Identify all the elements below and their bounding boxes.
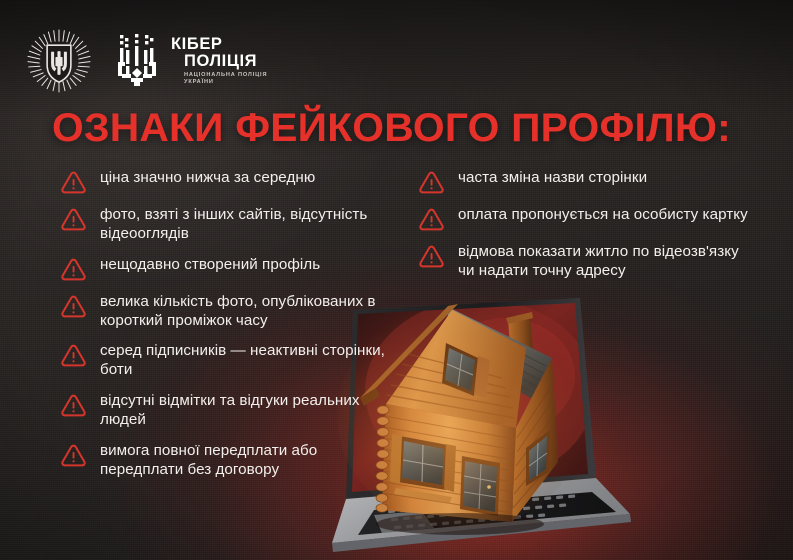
list-item: оплата пропонується на особисту картку xyxy=(418,205,748,231)
cyber-logo-line1: КІБЕР xyxy=(171,36,267,53)
header-logos: КІБЕР ПОЛІЦІЯ НАЦІОНАЛЬНА ПОЛІЦІЯ УКРАЇН… xyxy=(26,28,267,94)
list-item: часта зміна назви сторінки xyxy=(418,168,748,194)
national-police-emblem-icon xyxy=(26,28,92,94)
page-title: ОЗНАКИ ФЕЙКОВОГО ПРОФІЛЮ: xyxy=(52,108,731,148)
warning-triangle-icon xyxy=(418,244,445,268)
cyber-logo-line2: ПОЛІЦІЯ xyxy=(171,53,267,70)
warning-triangle-icon xyxy=(60,343,87,367)
warning-triangle-icon xyxy=(418,207,445,231)
list-item: відсутні відмітки та відгуки реальних лю… xyxy=(60,391,400,430)
list-item-label: нещодавно створений профіль xyxy=(100,255,320,275)
list-item-label: часта зміна назви сторінки xyxy=(458,168,647,188)
warning-triangle-icon xyxy=(418,170,445,194)
infographic-poster: КІБЕР ПОЛІЦІЯ НАЦІОНАЛЬНА ПОЛІЦІЯ УКРАЇН… xyxy=(0,0,793,560)
list-item: ціна значно нижча за середню xyxy=(60,168,400,194)
warning-triangle-icon xyxy=(60,393,87,417)
list-item-label: ціна значно нижча за середню xyxy=(100,168,315,188)
list-item: відмова показати житло по відеозв'язку ч… xyxy=(418,242,748,281)
warning-triangle-icon xyxy=(60,170,87,194)
warning-triangle-icon xyxy=(60,294,87,318)
list-item-label: відмова показати житло по відеозв'язку ч… xyxy=(458,242,748,281)
cyber-logo-sub2: УКРАЇНИ xyxy=(171,79,267,86)
list-item-label: велика кількість фото, опублікованих в к… xyxy=(100,292,400,331)
warning-list-right: часта зміна назви сторінки оплата пропон… xyxy=(418,168,748,292)
warning-triangle-icon xyxy=(60,443,87,467)
warning-triangle-icon xyxy=(60,207,87,231)
cyber-police-logo: КІБЕР ПОЛІЦІЯ НАЦІОНАЛЬНА ПОЛІЦІЯ УКРАЇН… xyxy=(112,33,267,89)
warning-list-left: ціна значно нижча за середню фото, взяті… xyxy=(60,168,400,490)
list-item-label: серед підписників — неактивні сторінки, … xyxy=(100,341,400,380)
list-item: фото, взяті з інших сайтів, відсутність … xyxy=(60,205,400,244)
list-item: велика кількість фото, опублікованих в к… xyxy=(60,292,400,331)
pixel-trident-icon xyxy=(112,33,162,89)
list-item-label: відсутні відмітки та відгуки реальних лю… xyxy=(100,391,400,430)
list-item-label: вимога повної передплати або передплати … xyxy=(100,441,400,480)
list-item: серед підписників — неактивні сторінки, … xyxy=(60,341,400,380)
list-item: нещодавно створений профіль xyxy=(60,255,400,281)
list-item: вимога повної передплати або передплати … xyxy=(60,441,400,480)
list-item-label: оплата пропонується на особисту картку xyxy=(458,205,748,225)
warning-triangle-icon xyxy=(60,257,87,281)
list-item-label: фото, взяті з інших сайтів, відсутність … xyxy=(100,205,400,244)
